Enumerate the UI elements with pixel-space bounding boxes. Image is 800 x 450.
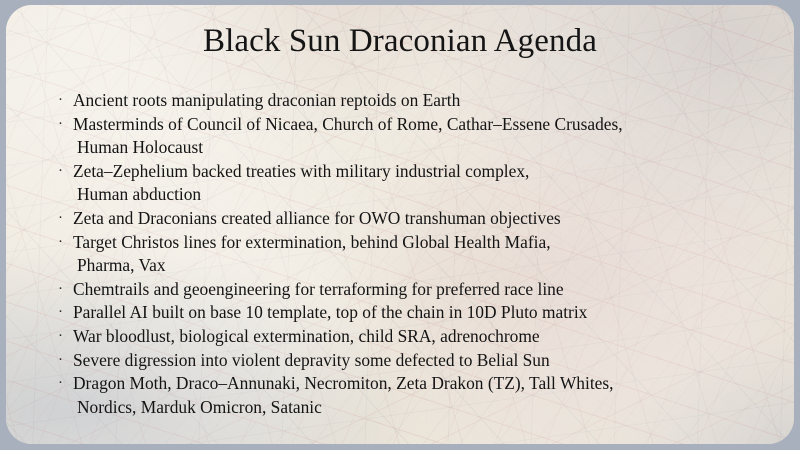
bullet-text: Dragon Moth, Draco–Annunaki, Necromiton,…: [73, 372, 770, 419]
bullet-line-primary: Ancient roots manipulating draconian rep…: [73, 90, 460, 110]
bullet-text: Zeta–Zephelium backed treaties with mili…: [73, 160, 770, 207]
bullet-line-continuation: Nordics, Marduk Omicron, Satanic: [73, 396, 770, 420]
bullet-line-continuation: Human abduction: [73, 183, 770, 207]
bullet-dot-icon: ·: [58, 278, 73, 302]
bullet-item: ·Zeta–Zephelium backed treaties with mil…: [58, 160, 770, 207]
bullet-item: ·Severe digression into violent depravit…: [58, 349, 770, 373]
slide-title: Black Sun Draconian Agenda: [6, 21, 794, 61]
bullet-dot-icon: ·: [58, 160, 73, 184]
bullet-text: Ancient roots manipulating draconian rep…: [73, 89, 770, 113]
bullet-line-primary: Chemtrails and geoengineering for terraf…: [73, 279, 564, 299]
bullet-line-primary: Dragon Moth, Draco–Annunaki, Necromiton,…: [73, 373, 613, 393]
bullet-line-primary: Severe digression into violent depravity…: [73, 350, 550, 370]
bullet-dot-icon: ·: [58, 113, 73, 137]
bullet-dot-icon: ·: [58, 325, 73, 349]
bullet-text: Parallel AI built on base 10 template, t…: [73, 301, 770, 325]
bullet-line-primary: Target Christos lines for extermination,…: [73, 232, 551, 252]
bullet-line-continuation: Human Holocaust: [73, 136, 770, 160]
bullet-text: Masterminds of Council of Nicaea, Church…: [73, 113, 770, 160]
bullet-item: ·Dragon Moth, Draco–Annunaki, Necromiton…: [58, 372, 770, 419]
bullet-list: ·Ancient roots manipulating draconian re…: [58, 89, 770, 419]
bullet-dot-icon: ·: [58, 231, 73, 255]
bullet-item: ·Parallel AI built on base 10 template, …: [58, 301, 770, 325]
slide-content: Black Sun Draconian Agenda ·Ancient root…: [6, 5, 794, 444]
bullet-line-primary: War bloodlust, biological extermination,…: [73, 326, 540, 346]
bullet-dot-icon: ·: [58, 349, 73, 373]
bullet-item: ·Target Christos lines for extermination…: [58, 231, 770, 278]
bullet-dot-icon: ·: [58, 301, 73, 325]
bullet-item: ·Chemtrails and geoengineering for terra…: [58, 278, 770, 302]
bullet-dot-icon: ·: [58, 89, 73, 113]
bullet-line-continuation: Pharma, Vax: [73, 254, 770, 278]
bullet-text: War bloodlust, biological extermination,…: [73, 325, 770, 349]
bullet-text: Chemtrails and geoengineering for terraf…: [73, 278, 770, 302]
bullet-item: ·Ancient roots manipulating draconian re…: [58, 89, 770, 113]
bullet-text: Zeta and Draconians created alliance for…: [73, 207, 770, 231]
bullet-item: ·Masterminds of Council of Nicaea, Churc…: [58, 113, 770, 160]
bullet-line-primary: Zeta and Draconians created alliance for…: [73, 208, 561, 228]
bullet-line-primary: Zeta–Zephelium backed treaties with mili…: [73, 161, 529, 181]
bullet-text: Target Christos lines for extermination,…: [73, 231, 770, 278]
bullet-dot-icon: ·: [58, 207, 73, 231]
bullet-item: ·Zeta and Draconians created alliance fo…: [58, 207, 770, 231]
bullet-line-primary: Parallel AI built on base 10 template, t…: [73, 302, 587, 322]
slide-panel: Black Sun Draconian Agenda ·Ancient root…: [6, 5, 794, 444]
presentation-slide: Black Sun Draconian Agenda ·Ancient root…: [0, 0, 800, 450]
bullet-line-primary: Masterminds of Council of Nicaea, Church…: [73, 114, 623, 134]
bullet-item: ·War bloodlust, biological extermination…: [58, 325, 770, 349]
bullet-text: Severe digression into violent depravity…: [73, 349, 770, 373]
bullet-dot-icon: ·: [58, 372, 73, 396]
